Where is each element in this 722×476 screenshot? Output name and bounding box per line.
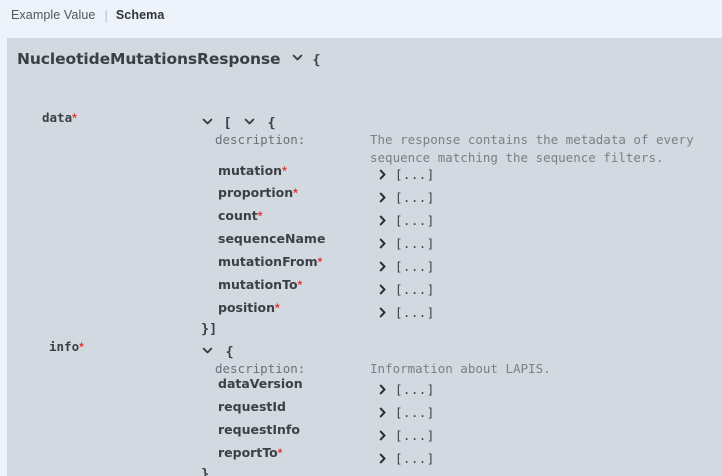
chevron-down-icon[interactable] <box>202 116 213 127</box>
chevron-right-icon[interactable] <box>377 238 388 249</box>
ellipsis-value: [...] <box>395 451 435 466</box>
tab-strip: Example Value | Schema <box>0 0 722 30</box>
property-name: proportion <box>218 185 293 200</box>
expand-value-sequencename[interactable]: [...] <box>377 236 435 251</box>
chevron-down-icon[interactable] <box>292 52 303 63</box>
expand-value-dataversion[interactable]: [...] <box>377 382 435 397</box>
property-row-sequencename: sequenceName <box>218 230 325 248</box>
property-name: mutation <box>218 163 282 178</box>
expand-value-proportion[interactable]: [...] <box>377 190 435 205</box>
array-close-brace: }] <box>201 321 217 337</box>
page-title: NucleotideMutationsResponse <box>17 50 280 68</box>
expand-value-requestinfo[interactable]: [...] <box>377 428 435 443</box>
property-row-reportto: reportTo* <box>218 444 282 462</box>
description-value: Information about LAPIS. <box>370 361 551 376</box>
property-name: position <box>218 300 275 315</box>
chevron-right-icon[interactable] <box>377 430 388 441</box>
ellipsis-value: [...] <box>395 167 435 182</box>
property-row-requestid: requestId <box>218 398 286 416</box>
tab-separator: | <box>104 9 107 22</box>
expand-value-mutationfrom[interactable]: [...] <box>377 259 435 274</box>
schema-panel: NucleotideMutationsResponse { data* [ { … <box>7 38 722 476</box>
ellipsis-value: [...] <box>395 259 435 274</box>
expand-value-mutation[interactable]: [...] <box>377 167 435 182</box>
description-label-text: description: <box>215 132 305 147</box>
info-object-open-row[interactable]: { <box>202 343 234 361</box>
property-row-position: position* <box>218 299 280 317</box>
property-name: sequenceName <box>218 231 325 246</box>
property-row-proportion: proportion* <box>218 184 298 202</box>
property-row-count: count* <box>218 207 262 225</box>
property-name: mutationTo <box>218 277 298 292</box>
object-close-brace: } <box>201 466 209 476</box>
schema-title-row: NucleotideMutationsResponse { <box>17 50 321 69</box>
expand-value-mutationto[interactable]: [...] <box>377 282 435 297</box>
chevron-right-icon[interactable] <box>377 307 388 318</box>
property-name: dataVersion <box>218 376 303 391</box>
property-name: mutationFrom <box>218 254 318 269</box>
expand-value-position[interactable]: [...] <box>377 305 435 320</box>
required-marker: * <box>278 446 283 460</box>
chevron-right-icon[interactable] <box>377 215 388 226</box>
ellipsis-value: [...] <box>395 213 435 228</box>
chevron-right-icon[interactable] <box>377 169 388 180</box>
property-name: reportTo <box>218 445 278 460</box>
root-open-brace: { <box>312 52 320 68</box>
required-marker: * <box>258 209 263 223</box>
object-open-brace: { <box>268 115 276 131</box>
property-row-mutation: mutation* <box>218 162 287 180</box>
tab-example-value[interactable]: Example Value <box>11 8 95 22</box>
property-name: requestId <box>218 399 286 414</box>
required-marker: * <box>318 255 323 269</box>
chevron-down-icon[interactable] <box>202 345 213 356</box>
ellipsis-value: [...] <box>395 282 435 297</box>
expand-value-count[interactable]: [...] <box>377 213 435 228</box>
ellipsis-value: [...] <box>395 305 435 320</box>
property-name: count <box>218 208 258 223</box>
description-value: The response contains the metadata of ev… <box>370 132 694 165</box>
property-row-mutationfrom: mutationFrom* <box>218 253 322 271</box>
data-description-label: description: <box>215 131 305 149</box>
expand-value-requestid[interactable]: [...] <box>377 405 435 420</box>
property-name: info <box>49 339 79 354</box>
description-label-text: description: <box>215 361 305 376</box>
required-marker: * <box>282 164 287 178</box>
required-marker: * <box>293 186 298 200</box>
chevron-right-icon[interactable] <box>377 284 388 295</box>
schema-viewer: Example Value | Schema NucleotideMutatio… <box>0 0 722 476</box>
ellipsis-value: [...] <box>395 405 435 420</box>
property-name: data <box>42 110 72 125</box>
tab-schema[interactable]: Schema <box>116 8 165 22</box>
expand-value-reportto[interactable]: [...] <box>377 451 435 466</box>
required-marker: * <box>275 301 280 315</box>
chevron-right-icon[interactable] <box>377 384 388 395</box>
required-marker: * <box>298 278 303 292</box>
property-row-dataversion: dataVersion <box>218 375 303 393</box>
array-open-bracket: [ <box>223 115 231 131</box>
data-array-close-row: }] <box>201 320 217 338</box>
chevron-right-icon[interactable] <box>377 407 388 418</box>
chevron-down-icon[interactable] <box>244 116 255 127</box>
property-key-data: data* <box>42 109 77 127</box>
chevron-right-icon[interactable] <box>377 192 388 203</box>
chevron-right-icon[interactable] <box>377 453 388 464</box>
required-marker: * <box>79 340 84 354</box>
data-array-open-row[interactable]: [ { <box>202 114 276 132</box>
ellipsis-value: [...] <box>395 236 435 251</box>
property-row-requestinfo: requestInfo <box>218 421 300 439</box>
info-description-text: Information about LAPIS. <box>370 360 551 378</box>
ellipsis-value: [...] <box>395 190 435 205</box>
object-open-brace: { <box>225 344 233 360</box>
property-key-info: info* <box>49 338 84 356</box>
data-description-text: The response contains the metadata of ev… <box>370 131 700 167</box>
property-row-mutationto: mutationTo* <box>218 276 302 294</box>
required-marker: * <box>72 111 77 125</box>
ellipsis-value: [...] <box>395 428 435 443</box>
chevron-right-icon[interactable] <box>377 261 388 272</box>
info-object-close-row: } <box>201 465 209 476</box>
ellipsis-value: [...] <box>395 382 435 397</box>
property-name: requestInfo <box>218 422 300 437</box>
